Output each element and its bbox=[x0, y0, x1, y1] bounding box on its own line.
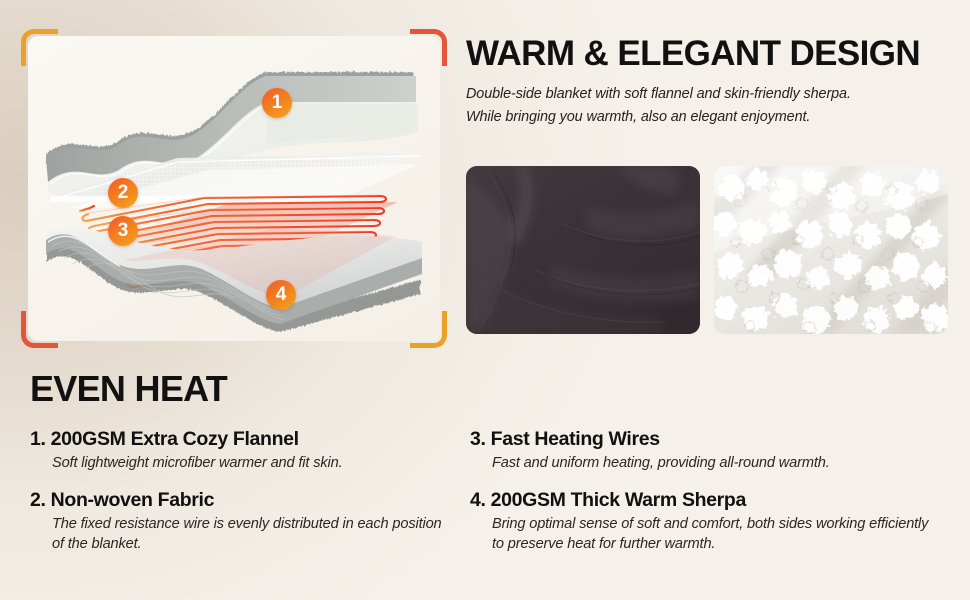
feature-3-description: Fast and uniform heating, providing all-… bbox=[470, 453, 942, 474]
feature-2-number: 2. bbox=[30, 489, 46, 511]
feature-2-description: The fixed resistance wire is evenly dist… bbox=[30, 514, 450, 555]
flannel-fabric-photo bbox=[466, 166, 700, 334]
feature-item-2: 2. Non-woven Fabric The fixed resistance… bbox=[30, 489, 450, 555]
feature-1-number: 1. bbox=[30, 428, 46, 450]
feature-4-title: 200GSM Thick Warm Sherpa bbox=[491, 489, 746, 511]
feature-4-description: Bring optimal sense of soft and comfort,… bbox=[470, 514, 942, 555]
feature-3-title: Fast Heating Wires bbox=[491, 428, 660, 450]
infographic-page: 1 2 3 4 WARM & ELEGANT DESIGN Double-sid… bbox=[0, 0, 970, 600]
layer-badge-2[interactable]: 2 bbox=[108, 178, 138, 208]
feature-1-title: 200GSM Extra Cozy Flannel bbox=[51, 428, 299, 450]
even-heat-title: EVEN HEAT bbox=[30, 368, 227, 410]
layer-badge-3[interactable]: 3 bbox=[108, 216, 138, 246]
design-subtitle-line-1: Double-side blanket with soft flannel an… bbox=[466, 83, 948, 106]
feature-3-heading: 3. Fast Heating Wires bbox=[470, 428, 942, 451]
feature-1-heading: 1. 200GSM Extra Cozy Flannel bbox=[30, 428, 450, 451]
fabric-photo-row bbox=[466, 166, 948, 334]
layer-4-sherpa bbox=[46, 227, 422, 332]
design-title: WARM & ELEGANT DESIGN bbox=[466, 34, 948, 74]
layer-illustration-panel: 1 2 3 4 bbox=[28, 36, 440, 341]
feature-item-3: 3. Fast Heating Wires Fast and uniform h… bbox=[470, 428, 942, 474]
layer-badge-4[interactable]: 4 bbox=[266, 280, 296, 310]
feature-1-description: Soft lightweight microfiber warmer and f… bbox=[30, 453, 450, 474]
feature-4-number: 4. bbox=[470, 489, 486, 511]
design-subtitle-line-2: While bringing you warmth, also an elega… bbox=[466, 106, 948, 129]
layer-badge-1[interactable]: 1 bbox=[262, 88, 292, 118]
feature-4-heading: 4. 200GSM Thick Warm Sherpa bbox=[470, 489, 942, 512]
feature-2-title: Non-woven Fabric bbox=[51, 489, 214, 511]
design-header-block: WARM & ELEGANT DESIGN Double-side blanke… bbox=[466, 34, 948, 130]
feature-2-heading: 2. Non-woven Fabric bbox=[30, 489, 450, 512]
blanket-layers-diagram bbox=[28, 36, 440, 341]
feature-item-1: 1. 200GSM Extra Cozy Flannel Soft lightw… bbox=[30, 428, 450, 474]
sherpa-fabric-photo bbox=[714, 166, 948, 334]
feature-3-number: 3. bbox=[470, 428, 486, 450]
feature-column-right: 3. Fast Heating Wires Fast and uniform h… bbox=[470, 428, 942, 570]
feature-item-4: 4. 200GSM Thick Warm Sherpa Bring optima… bbox=[470, 489, 942, 555]
feature-column-left: 1. 200GSM Extra Cozy Flannel Soft lightw… bbox=[30, 428, 450, 570]
